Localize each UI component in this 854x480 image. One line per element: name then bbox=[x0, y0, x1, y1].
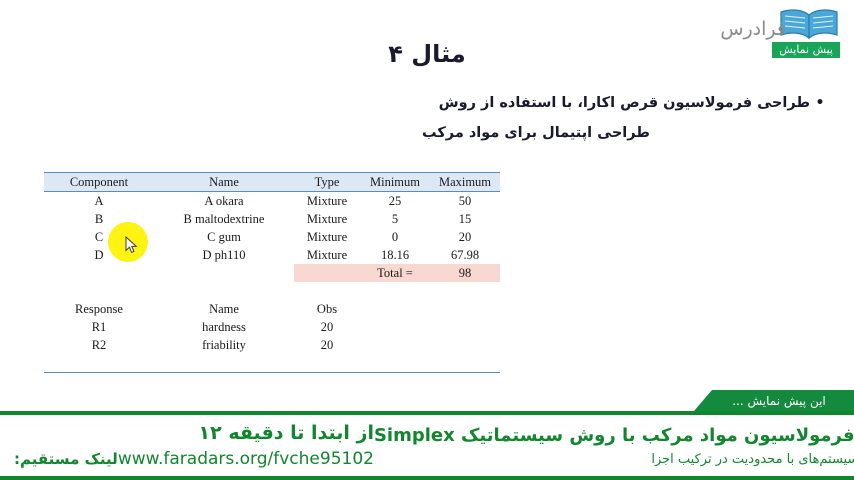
resp-blank-2 bbox=[430, 300, 500, 318]
cell-type: Mixture bbox=[294, 192, 360, 211]
bottom-banner: از ابتدا تا دقیقه ۱۲ www.faradars.org/fv… bbox=[0, 411, 854, 480]
total-spacer-2 bbox=[154, 264, 294, 282]
cell-obs: 20 bbox=[294, 318, 360, 336]
cell-resp-name: hardness bbox=[154, 318, 294, 336]
cell-name: D ph110 bbox=[154, 246, 294, 264]
course-subtitle: درس سوم: سیستم‌های با محدودیت در ترکیب ا… bbox=[374, 452, 854, 467]
cell-minimum: 0 bbox=[360, 228, 430, 246]
th-type: Type bbox=[294, 173, 360, 192]
banner-right-block: آموزش فرمولاسیون مواد مرکب با روش سیستما… bbox=[374, 425, 854, 467]
table-row: R1 hardness 20 bbox=[44, 318, 500, 336]
direct-link-label: لینک مستقیم: bbox=[14, 450, 118, 468]
course-title: آموزش فرمولاسیون مواد مرکب با روش سیستما… bbox=[374, 425, 854, 446]
total-row: Total = 98 bbox=[44, 264, 500, 282]
table-gap-row bbox=[44, 282, 500, 300]
th-resp-name: Name bbox=[154, 300, 294, 318]
design-tables: Component Name Type Minimum Maximum A A … bbox=[44, 172, 500, 373]
bullet-item: • طراحی فرمولاسیون قرص اکارا، با استفاده… bbox=[310, 88, 830, 118]
resp-blank-1 bbox=[360, 336, 430, 354]
th-obs: Obs bbox=[294, 300, 360, 318]
cell-response: R1 bbox=[44, 318, 154, 336]
th-name: Name bbox=[154, 173, 294, 192]
cell-name: C gum bbox=[154, 228, 294, 246]
th-response: Response bbox=[44, 300, 154, 318]
total-value: 98 bbox=[430, 264, 500, 282]
table-bottom-rule bbox=[44, 354, 500, 372]
cell-maximum: 67.98 bbox=[430, 246, 500, 264]
resp-blank-2 bbox=[430, 336, 500, 354]
total-label: Total = bbox=[360, 264, 430, 282]
table-row: A A okara Mixture 25 50 bbox=[44, 192, 500, 211]
mouse-pointer-icon bbox=[125, 236, 138, 254]
bottom-rule-cell bbox=[44, 354, 500, 372]
total-spacer-1 bbox=[44, 264, 154, 282]
page-title: مثال ۴ bbox=[0, 40, 854, 68]
response-table-header-row: Response Name Obs bbox=[44, 300, 500, 318]
bullet-item-continuation: طراحی اپتیمال برای مواد مرکب bbox=[310, 118, 810, 148]
resp-blank-1 bbox=[360, 318, 430, 336]
cell-minimum: 5 bbox=[360, 210, 430, 228]
cell-obs: 20 bbox=[294, 336, 360, 354]
table-row: R2 friability 20 bbox=[44, 336, 500, 354]
table-row: B B maltodextrine Mixture 5 15 bbox=[44, 210, 500, 228]
course-url[interactable]: www.faradars.org/fvche95102 bbox=[118, 449, 374, 469]
cell-minimum: 25 bbox=[360, 192, 430, 211]
cell-resp-name: friability bbox=[154, 336, 294, 354]
cell-component: A bbox=[44, 192, 154, 211]
banner-link-row: www.faradars.org/fvche95102لینک مستقیم: bbox=[14, 449, 374, 469]
cell-type: Mixture bbox=[294, 228, 360, 246]
th-maximum: Maximum bbox=[430, 173, 500, 192]
logo-wordmark: فرادرس bbox=[720, 18, 786, 40]
open-book-icon bbox=[778, 8, 840, 42]
banner-left-block: از ابتدا تا دقیقه ۱۲ www.faradars.org/fv… bbox=[0, 422, 374, 469]
cell-maximum: 15 bbox=[430, 210, 500, 228]
bullet-dot-icon: • bbox=[810, 88, 830, 118]
bullet-text: طراحی فرمولاسیون قرص اکارا، با استفاده ا… bbox=[310, 88, 810, 118]
total-spacer-3 bbox=[294, 264, 360, 282]
th-minimum: Minimum bbox=[360, 173, 430, 192]
resp-blank-2 bbox=[430, 318, 500, 336]
tables-region: Component Name Type Minimum Maximum A A … bbox=[44, 172, 500, 373]
cell-maximum: 50 bbox=[430, 192, 500, 211]
th-component: Component bbox=[44, 173, 154, 192]
slide-canvas: فرادرس پیش نمایش مثال ۴ • طراحی فرمولاسی… bbox=[0, 0, 854, 480]
cell-name: B maltodextrine bbox=[154, 210, 294, 228]
cell-maximum: 20 bbox=[430, 228, 500, 246]
component-table-header-row: Component Name Type Minimum Maximum bbox=[44, 173, 500, 192]
cell-response: R2 bbox=[44, 336, 154, 354]
resp-blank-1 bbox=[360, 300, 430, 318]
gap-cell bbox=[44, 282, 500, 300]
cell-name: A okara bbox=[154, 192, 294, 211]
cell-minimum: 18.16 bbox=[360, 246, 430, 264]
banner-duration-text: از ابتدا تا دقیقه ۱۲ bbox=[14, 422, 374, 444]
cell-type: Mixture bbox=[294, 210, 360, 228]
cell-type: Mixture bbox=[294, 246, 360, 264]
bullet-list: • طراحی فرمولاسیون قرص اکارا، با استفاده… bbox=[310, 88, 830, 148]
preview-tab: این پیش نمایش ... bbox=[694, 390, 854, 411]
